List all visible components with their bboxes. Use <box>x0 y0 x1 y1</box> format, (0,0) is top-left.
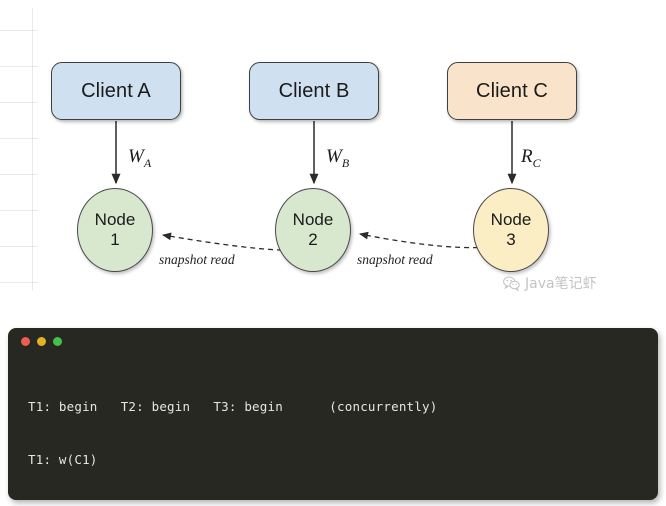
edge-label-wa-sub: A <box>144 156 151 170</box>
diagram-panel: Client A Client B Client C Node 1 Node 2… <box>0 0 666 322</box>
window-close-icon[interactable] <box>21 337 30 346</box>
terminal-output: T1: begin T2: begin T3: begin (concurren… <box>28 363 650 500</box>
window-maximize-icon[interactable] <box>53 337 62 346</box>
client-c-label: Client C <box>476 80 548 103</box>
edge-label-rc-sub: C <box>533 156 541 170</box>
node-1-title: Node <box>95 210 136 230</box>
edge-label-write-a: WA <box>128 146 151 171</box>
edge-label-wa-base: W <box>128 146 144 167</box>
edge-label-wb-sub: B <box>342 156 349 170</box>
node-ellipse-node-1[interactable]: Node 1 <box>77 188 153 272</box>
client-box-client-c[interactable]: Client C <box>447 62 577 120</box>
node-ellipse-node-2[interactable]: Node 2 <box>275 188 351 272</box>
snapshot-read-label-right: snapshot read <box>357 252 433 268</box>
node-1-number: 1 <box>110 230 119 250</box>
snapshot-read-label-left: snapshot read <box>159 252 235 268</box>
terminal-line: T1: begin T2: begin T3: begin (concurren… <box>28 398 650 416</box>
edge-label-rc-base: R <box>521 146 533 167</box>
terminal-line: T1: w(C1) <box>28 451 650 469</box>
client-b-label: Client B <box>279 80 350 103</box>
window-minimize-icon[interactable] <box>37 337 46 346</box>
node-3-number: 3 <box>506 230 515 250</box>
client-a-label: Client A <box>81 80 151 103</box>
client-box-client-a[interactable]: Client A <box>51 62 181 120</box>
node-ellipse-node-3[interactable]: Node 3 <box>473 188 549 272</box>
node-3-title: Node <box>491 210 532 230</box>
node-2-number: 2 <box>308 230 317 250</box>
watermark: Java笔记虾 <box>503 273 597 293</box>
edge-label-write-b: WB <box>326 146 349 171</box>
terminal-window: T1: begin T2: begin T3: begin (concurren… <box>8 328 658 500</box>
wechat-logo-icon <box>503 276 520 291</box>
terminal-titlebar <box>21 337 62 346</box>
client-box-client-b[interactable]: Client B <box>249 62 379 120</box>
edge-label-read-c: RC <box>521 146 541 171</box>
node-2-title: Node <box>293 210 334 230</box>
watermark-text: Java笔记虾 <box>525 273 597 293</box>
edge-label-wb-base: W <box>326 146 342 167</box>
